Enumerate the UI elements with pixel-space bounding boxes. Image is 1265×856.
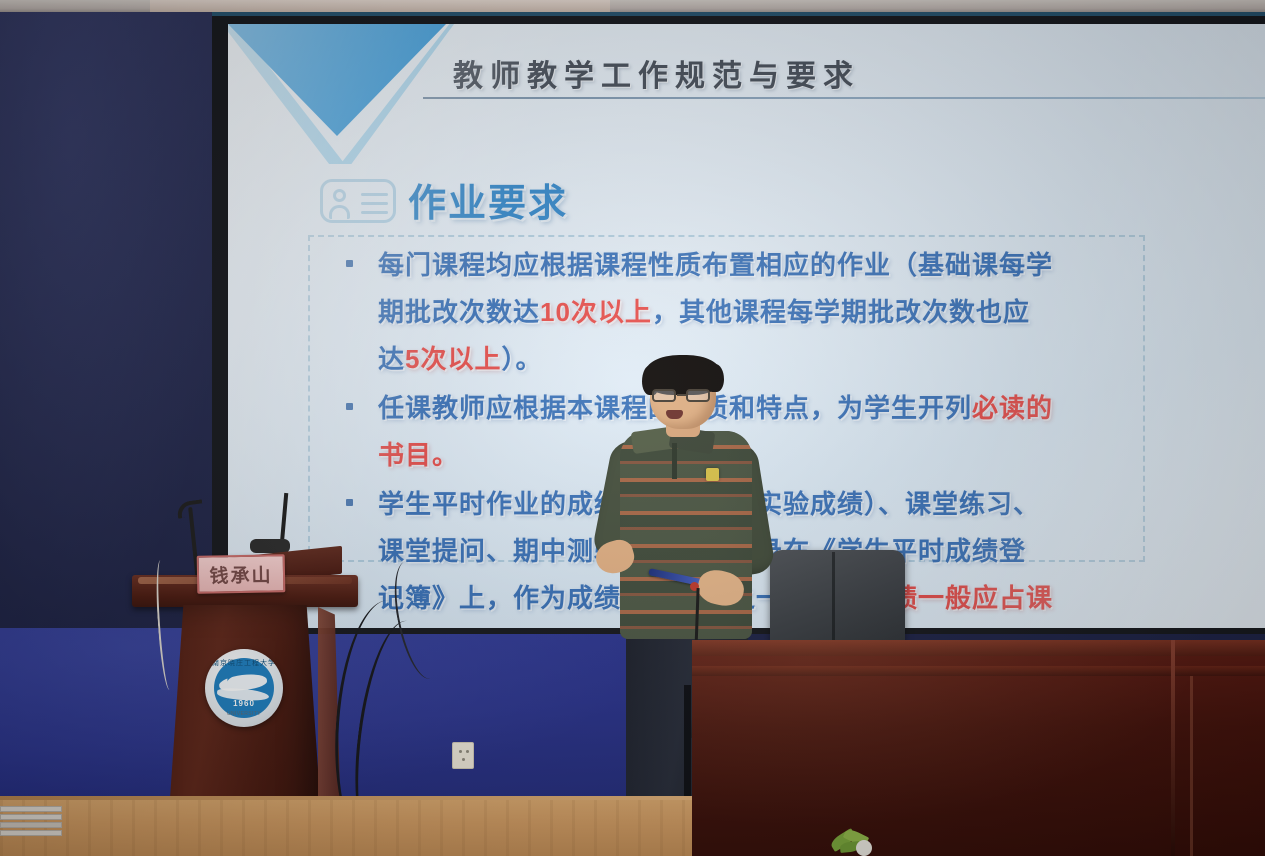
bullet-line: 期批改次数达10次以上，其他课程每学期批改次数也应 bbox=[378, 289, 1146, 336]
wall-socket-icon bbox=[452, 742, 474, 769]
emblem-bottom-text: UNIVERSITY bbox=[205, 711, 283, 717]
chevron-solid-decoration bbox=[228, 24, 446, 136]
bullet-text-run: 5次以上 bbox=[405, 344, 501, 374]
bullet-line: 每门课程均应根据课程性质布置相应的作业（基础课每学 bbox=[378, 242, 1146, 289]
presenter-torso bbox=[620, 431, 752, 639]
bullet-text-run: 每门课程均应根据课程性质布置相应的作业（基础课每学 bbox=[378, 250, 1053, 280]
bullet-text-run: ，其他课程每学期批改次数也应 bbox=[652, 297, 1030, 327]
bullet-text-run: 必读的 bbox=[972, 393, 1053, 423]
podium-nameplate: 钱承山 bbox=[197, 554, 286, 594]
presenter-shirt-placket bbox=[672, 443, 677, 479]
bullet-marker bbox=[346, 403, 353, 410]
desk-sheen bbox=[692, 640, 1265, 856]
id-card-list-icon bbox=[320, 179, 396, 223]
wall-panel-dark-sheen bbox=[0, 12, 235, 632]
section-heading: 作业要求 bbox=[408, 172, 568, 227]
emblem-year: 1960 bbox=[205, 699, 283, 708]
ceiling-light-strip bbox=[150, 0, 610, 12]
slide-title: 教师教学工作规范与要求 bbox=[453, 51, 860, 95]
university-wave-emblem-icon: 南京晓庄工程大学 1960 UNIVERSITY bbox=[205, 649, 283, 727]
eyeglasses-icon bbox=[652, 389, 714, 402]
presenter-mouth bbox=[666, 410, 683, 419]
presenter-badge bbox=[706, 468, 719, 481]
bullet-text-run: 达 bbox=[378, 344, 405, 374]
emblem-top-text: 南京晓庄工程大学 bbox=[205, 658, 283, 668]
title-underline bbox=[423, 97, 1265, 99]
book-stack bbox=[0, 806, 62, 840]
decorative-plant bbox=[820, 826, 890, 856]
lecture-hall-photo: 教师教学工作规范与要求 作业要求 每门课程均应根据课程性质布置相应的作业（基础课… bbox=[0, 0, 1265, 856]
office-chair-back bbox=[770, 550, 905, 644]
chair-seam bbox=[832, 552, 835, 642]
nameplate-text: 钱承山 bbox=[209, 560, 272, 588]
presenter-hair-side-right bbox=[708, 364, 724, 392]
bullet-text-run: 10次以上 bbox=[540, 297, 652, 327]
floor-grain bbox=[0, 800, 700, 856]
bullet-text-run: 书目。 bbox=[378, 440, 459, 470]
bullet-marker bbox=[346, 499, 353, 506]
bullet-marker bbox=[346, 260, 353, 267]
bullet-text-run: ）。 bbox=[501, 344, 542, 374]
bullet-text-run: 期批改次数达 bbox=[378, 297, 540, 327]
